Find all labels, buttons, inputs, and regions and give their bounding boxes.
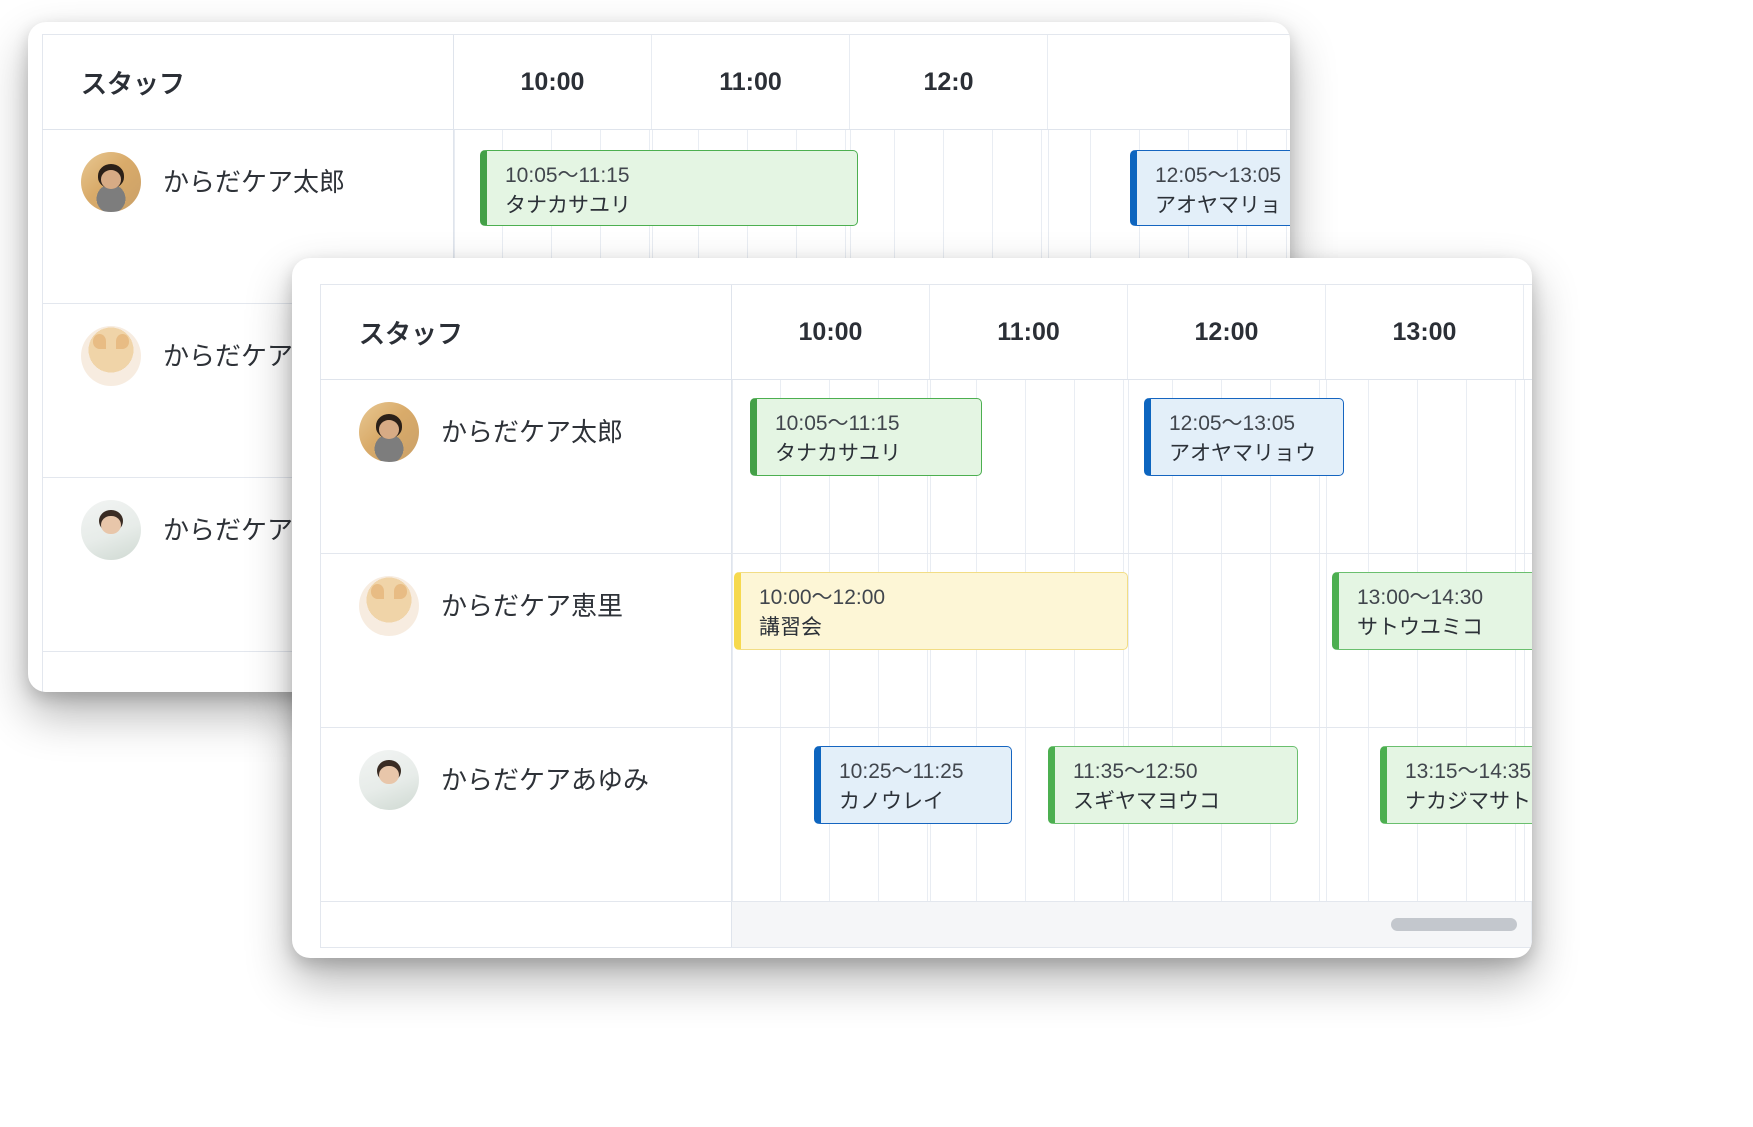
appointment-name: カノウレイ [839,787,1011,817]
header-time-12: 12:0 [850,35,1048,129]
appointment-time: 10:00〜12:00 [759,583,1127,613]
header-time-10: 10:00 [732,285,930,379]
appointment-name: タナカサユリ [775,439,981,469]
appointment-name: タナカサユリ [505,191,857,221]
appointment-time: 12:05〜13:05 [1169,409,1343,439]
appointment-block[interactable]: 10:25〜11:25 カノウレイ [814,746,1012,824]
table-header-row-front: スタッフ 10:00 11:00 12:00 13:00 [320,284,1532,380]
appointment-block[interactable]: 10:05〜11:15 タナカサユリ [480,150,858,226]
staff-name-label: からだケア太郎 [441,402,623,462]
appointment-name: 講習会 [759,613,1127,643]
schedule-table-front: スタッフ 10:00 11:00 12:00 13:00 からだケア太郎 [320,284,1532,958]
header-staff-cell-front: スタッフ [320,285,732,379]
appointment-block[interactable]: 11:35〜12:50 スギヤマヨウコ [1048,746,1298,824]
horizontal-scrollbar-thumb[interactable] [1391,918,1517,931]
screenshot-stage: スタッフ 10:00 11:00 12:0 からだケア太郎 10:05〜11:1… [0,0,1753,1127]
appointment-time: 13:00〜14:30 [1357,583,1532,613]
avatar [359,576,419,636]
appointment-block[interactable]: 13:00〜14:30 サトウユミコ [1332,572,1532,650]
appointment-name: サトウユミコ [1357,613,1532,643]
avatar [81,152,141,212]
horizontal-scrollbar-track[interactable] [732,902,1532,947]
appointment-time: 11:35〜12:50 [1073,757,1297,787]
timeline-lanes[interactable]: 10:05〜11:15 タナカサユリ 12:05〜13:05 アオヤマリョウ [732,380,1532,553]
appointment-time: 10:05〜11:15 [775,409,981,439]
table-row[interactable]: からだケア太郎 10:05〜11:15 タナカサユリ 12:05〜13:05 ア… [320,380,1532,554]
appointment-time: 10:05〜11:15 [505,161,857,191]
avatar [359,750,419,810]
staff-name-label: からだケア恵里 [441,576,623,636]
header-staff-cell-back: スタッフ [42,35,454,129]
table-row[interactable]: からだケアあゆみ 10:25〜11:25 カノウレイ 11:35〜12:50 ス… [320,728,1532,902]
footer-staff-cell [320,902,732,947]
appointment-block[interactable]: 12:05〜13:05 アオヤマリョ [1130,150,1290,226]
table-footer-front [320,902,1532,948]
staff-name-label: からだケアあゆみ [441,750,649,810]
appointment-block[interactable]: 10:05〜11:15 タナカサユリ [750,398,982,476]
appointment-block[interactable]: 10:00〜12:00 講習会 [734,572,1128,650]
header-time-13: 13:00 [1326,285,1524,379]
appointment-block[interactable]: 12:05〜13:05 アオヤマリョウ [1144,398,1344,476]
staff-cell[interactable]: からだケアあゆみ [320,728,732,901]
timeline-lanes[interactable]: 10:25〜11:25 カノウレイ 11:35〜12:50 スギヤマヨウコ 13… [732,728,1532,901]
avatar [81,500,141,560]
staff-cell[interactable]: からだケア太郎 [320,380,732,553]
staff-cell[interactable]: からだケア恵里 [320,554,732,727]
appointment-time: 12:05〜13:05 [1155,161,1290,191]
header-time-11: 11:00 [930,285,1128,379]
header-staff-label: スタッフ [81,64,185,101]
appointment-name: アオヤマリョ [1155,191,1290,221]
table-header-row-back: スタッフ 10:00 11:00 12:0 [42,34,1290,130]
header-time-10: 10:00 [454,35,652,129]
staff-name-label: からだケア太郎 [163,152,345,212]
appointment-time: 10:25〜11:25 [839,757,1011,787]
appointment-name: スギヤマヨウコ [1073,787,1297,817]
header-time-11: 11:00 [652,35,850,129]
schedule-window-front[interactable]: スタッフ 10:00 11:00 12:00 13:00 からだケア太郎 [292,258,1532,958]
appointment-block[interactable]: 13:15〜14:35 ナカジマサト [1380,746,1532,824]
appointment-time: 13:15〜14:35 [1405,757,1532,787]
avatar [81,326,141,386]
timeline-lanes[interactable]: 10:00〜12:00 講習会 13:00〜14:30 サトウユミコ [732,554,1532,727]
appointment-name: ナカジマサト [1405,787,1532,817]
header-staff-label: スタッフ [359,314,463,351]
appointment-name: アオヤマリョウ [1169,439,1343,469]
header-time-12: 12:00 [1128,285,1326,379]
avatar [359,402,419,462]
table-row[interactable]: からだケア恵里 10:00〜12:00 講習会 13:00〜14:30 サトウユ… [320,554,1532,728]
